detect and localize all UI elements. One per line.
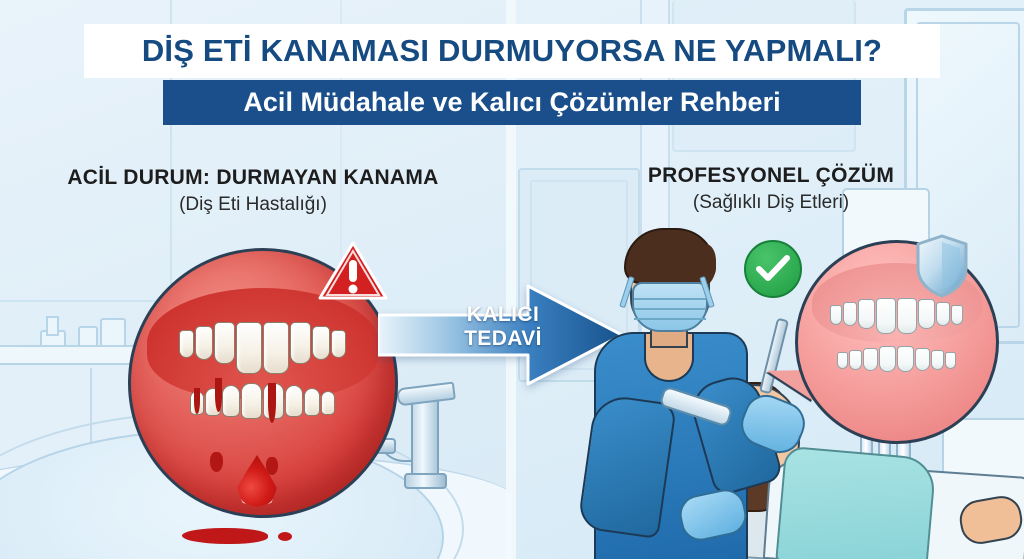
tooth <box>858 299 875 329</box>
tooth <box>951 305 963 325</box>
tooth <box>179 330 194 358</box>
faucet-body <box>411 395 439 485</box>
healthy-lower-teeth-row <box>814 346 980 372</box>
tooth <box>936 302 950 326</box>
tooth <box>321 391 335 415</box>
blood-splatter <box>182 528 268 544</box>
tooth <box>897 346 914 372</box>
right-heading-title: PROFESYONEL ÇÖZÜM <box>536 164 1006 188</box>
arrow-label-line1: KALICI <box>438 303 568 327</box>
tooth <box>222 385 240 417</box>
soap-pump-icon <box>46 316 59 336</box>
tooth <box>263 322 289 374</box>
patient-bib <box>775 446 937 559</box>
tooth <box>331 330 346 358</box>
tooth <box>837 352 848 369</box>
right-heading-sub: (Sağlıklı Diş Etleri) <box>536 192 1006 214</box>
tooth <box>290 322 311 364</box>
tooth <box>285 385 303 417</box>
left-heading-title: ACİL DURUM: DURMAYAN KANAMA <box>18 166 488 190</box>
tooth <box>879 346 896 372</box>
green-check-icon <box>744 240 802 298</box>
tooth <box>312 326 330 360</box>
tooth <box>214 322 235 364</box>
tooth <box>843 302 857 326</box>
healthy-gums-illustration <box>795 240 999 444</box>
left-heading-sub: (Diş Eti Hastalığı) <box>18 194 488 216</box>
tooth <box>236 322 262 374</box>
tooth <box>918 299 935 329</box>
faucet-base <box>404 473 447 489</box>
infographic-canvas: DİŞ ETİ KANAMASI DURMUYORSA NE YAPMALI? … <box>0 0 1024 559</box>
blood-splatter-small <box>278 532 292 541</box>
tooth <box>849 350 862 370</box>
dentist-face-mask <box>632 282 708 332</box>
tooth <box>195 326 213 360</box>
arrow-label-line2: TEDAVİ <box>438 327 568 351</box>
blood-drip <box>210 452 223 472</box>
subtitle-banner: Acil Müdahale ve Kalıcı Çözümler Rehberi <box>163 80 861 125</box>
upper-teeth-row <box>144 322 382 374</box>
tooth <box>304 388 320 416</box>
title-banner: DİŞ ETİ KANAMASI DURMUYORSA NE YAPMALI? <box>84 24 940 78</box>
tooth <box>876 298 896 334</box>
lower-teeth-row <box>149 383 376 419</box>
page-subtitle: Acil Müdahale ve Kalıcı Çözümler Rehberi <box>243 87 780 118</box>
tooth <box>863 348 878 371</box>
tooth <box>915 348 930 371</box>
tooth <box>931 350 944 370</box>
tooth <box>830 305 842 325</box>
tooth <box>897 298 917 334</box>
right-section-heading: PROFESYONEL ÇÖZÜM (Sağlıklı Diş Etleri) <box>536 164 1006 214</box>
left-section-heading: ACİL DURUM: DURMAYAN KANAMA (Diş Eti Has… <box>18 166 488 216</box>
page-title: DİŞ ETİ KANAMASI DURMUYORSA NE YAPMALI? <box>142 33 882 69</box>
shield-icon <box>916 234 968 298</box>
tooth <box>945 352 956 369</box>
healthy-upper-teeth-row <box>808 298 986 334</box>
arrow-label: KALICI TEDAVİ <box>438 303 568 350</box>
tooth <box>241 383 262 419</box>
